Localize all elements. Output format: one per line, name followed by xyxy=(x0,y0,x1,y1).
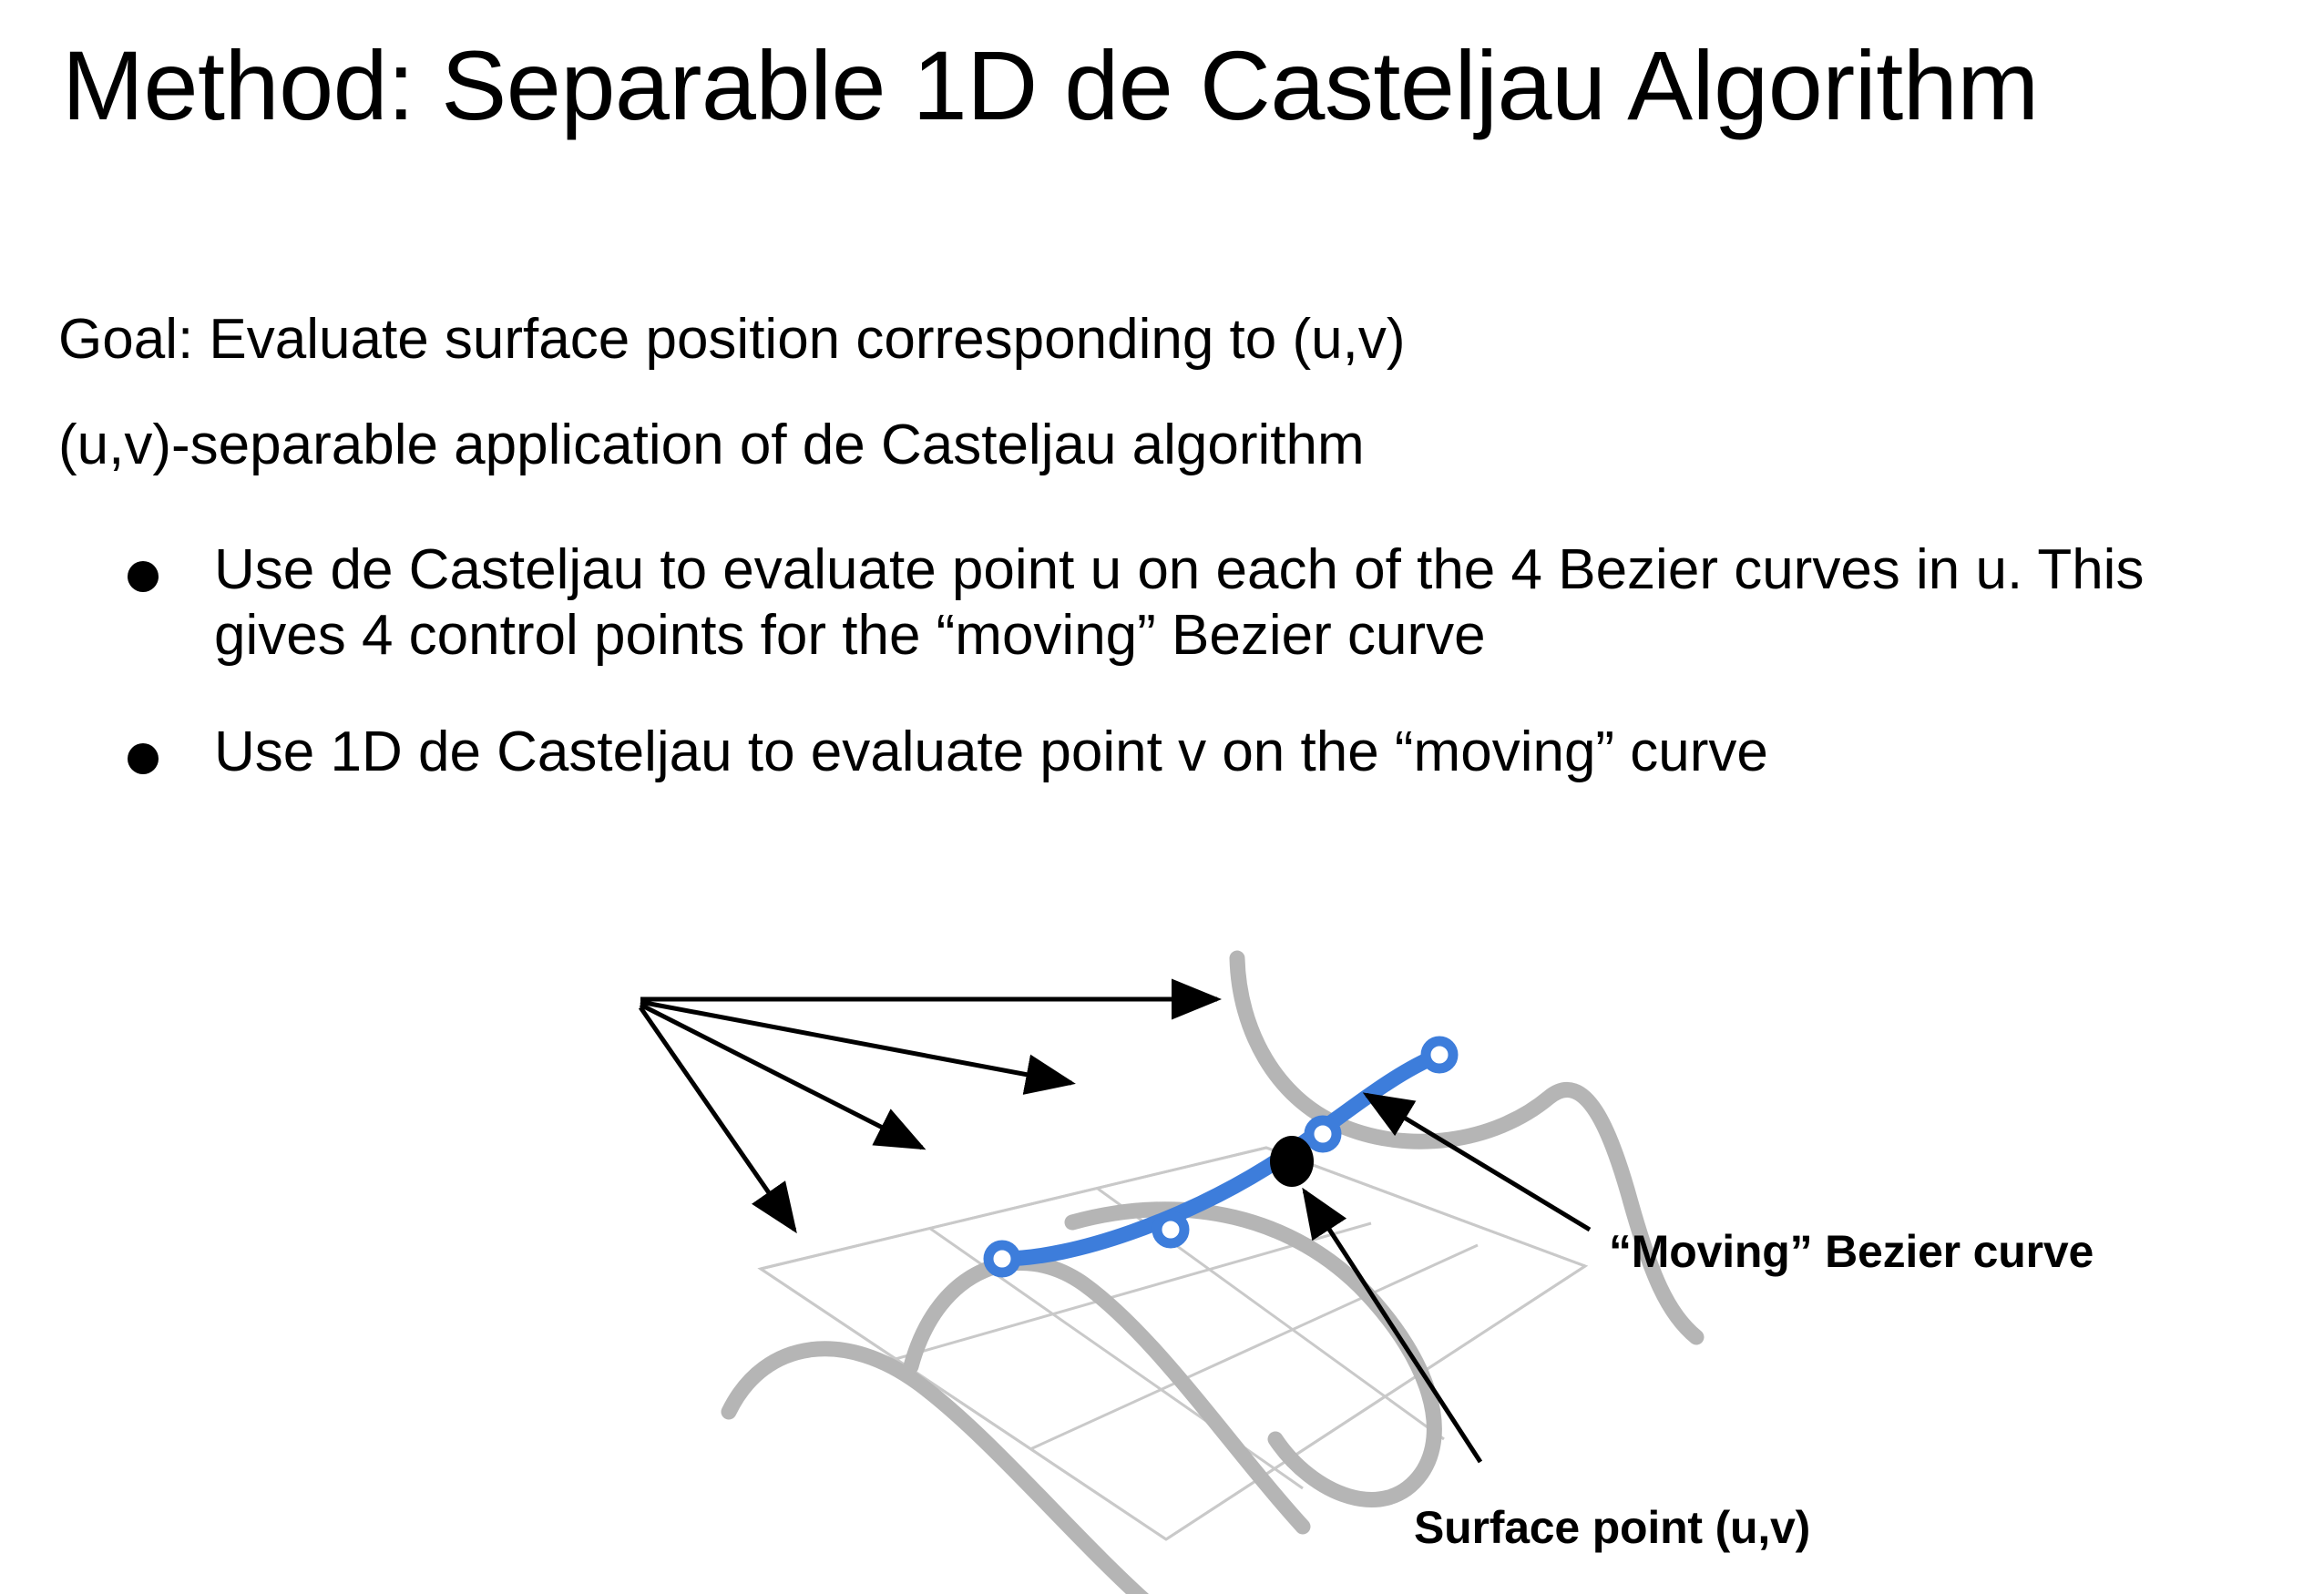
goal-statement: Goal: Evaluate surface position correspo… xyxy=(58,306,1405,373)
control-point-4 xyxy=(1426,1041,1453,1068)
annotation-arrow-4 xyxy=(640,1007,794,1230)
slide-root: Method: Separable 1D de Casteljau Algori… xyxy=(0,0,2324,1594)
bullet-dot-icon xyxy=(128,743,159,774)
surface-point-marker xyxy=(1270,1136,1314,1187)
list-item: Use de Casteljau to evaluate point u on … xyxy=(128,537,2259,669)
isoparm-annotation-arrows xyxy=(640,999,1217,1230)
list-item-label: Use de Casteljau to evaluate point u on … xyxy=(214,537,2259,669)
control-point-2 xyxy=(1157,1216,1184,1243)
annotation-arrow-2 xyxy=(640,1002,1071,1083)
page-title: Method: Separable 1D de Casteljau Algori… xyxy=(62,27,2267,143)
isoparm-curve-1 xyxy=(729,1349,1152,1594)
separable-statement: (u,v)-separable application of de Castel… xyxy=(58,412,1365,479)
moving-curve-control-points xyxy=(988,1041,1453,1272)
control-point-3 xyxy=(1309,1120,1336,1148)
control-point-1 xyxy=(988,1245,1016,1272)
bullet-dot-icon xyxy=(128,561,159,592)
bezier-surface-diagram: “Moving” Bezier curve Surface point (u,v… xyxy=(0,902,2324,1594)
surface-point-label: Surface point (u,v) xyxy=(1414,1501,1810,1554)
isoparm-curve-3 xyxy=(1072,1210,1434,1500)
surface-point-leader-line xyxy=(1305,1191,1480,1462)
moving-curve-label: “Moving” Bezier curve xyxy=(1609,1225,2094,1278)
list-item-label: Use 1D de Casteljau to evaluate point v … xyxy=(214,720,2259,785)
moving-curve-leader-line xyxy=(1367,1095,1590,1230)
list-item: Use 1D de Casteljau to evaluate point v … xyxy=(128,720,2259,785)
isoparm-bezier-curves xyxy=(729,958,1696,1594)
